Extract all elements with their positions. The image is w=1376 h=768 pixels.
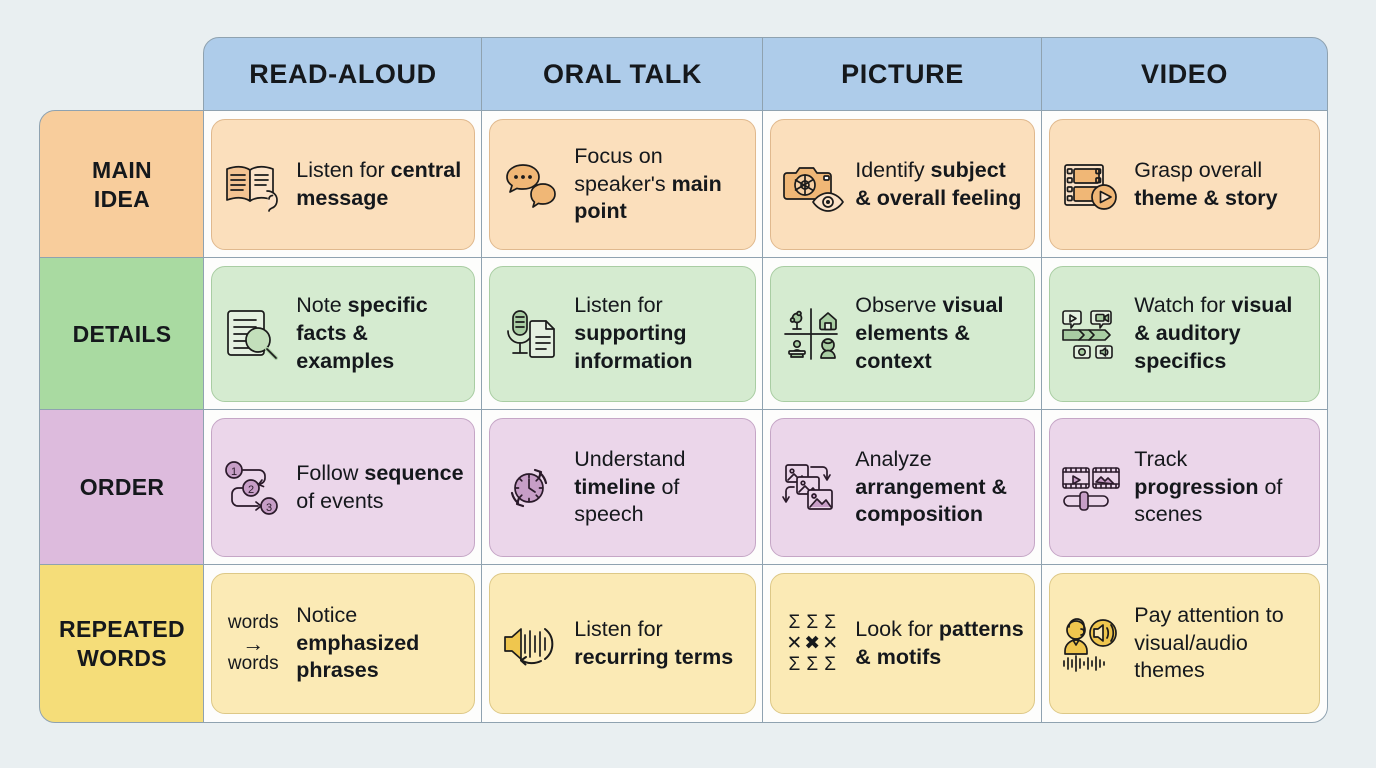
cell-text: Pay attention to visual/audio themes [1134,602,1309,686]
person-audio-wave-icon [1058,611,1124,677]
cell-text: Identify subject & overall feeling [855,157,1024,213]
stacked-photos-icon [779,455,845,521]
words-arrow-words-icon: words → words [220,611,286,677]
cell-main-idea-video[interactable]: Grasp overall theme & story [1041,110,1328,259]
svg-text:1: 1 [231,466,237,478]
speech-bubbles-icon [498,152,564,218]
row-header-label: ORDER [80,473,165,501]
speaker-loop-icon [498,611,564,677]
column-header-label: VIDEO [1141,59,1228,90]
cell-text: Listen for central message [296,157,464,213]
camera-eye-icon [779,152,845,218]
row-header-label: MAINIDEA [92,156,152,212]
row-header-label: DETAILS [73,320,172,348]
clock-arrows-icon [498,455,564,521]
cell-text: Observe visual elements & context [855,292,1024,376]
cell-text: Track progression of scenes [1134,446,1309,530]
document-magnifier-icon [220,301,286,367]
cell-text: Analyze arrangement & composition [855,446,1024,530]
cell-text: Note specific facts & examples [296,292,464,376]
cell-text: Listen for recurring terms [574,616,745,672]
sigma-pattern-grid-icon: Σ Σ Σ ✕ ✖ ✕ Σ Σ Σ [779,611,845,677]
words-icon-bottom: words [228,653,279,674]
column-header-oral-talk[interactable]: ORAL TALK [481,37,764,112]
film-slider-icon [1058,455,1124,521]
microphone-document-icon [498,301,564,367]
column-header-label: PICTURE [841,59,964,90]
column-header-label: READ-ALOUD [249,59,437,90]
cell-text: Listen for supporting information [574,292,745,376]
media-timeline-icon [1058,301,1124,367]
comprehension-strategy-matrix: READ-ALOUD ORAL TALK PICTURE VIDEO MAINI… [40,38,1337,722]
cell-details-oral-talk[interactable]: Listen for supporting information [481,257,764,411]
cell-repeated-words-video[interactable]: Pay attention to visual/audio themes [1041,564,1328,723]
svg-text:3: 3 [266,502,272,514]
film-strip-play-icon [1058,152,1124,218]
row-header-label: REPEATEDWORDS [59,615,185,671]
column-header-read-aloud[interactable]: READ-ALOUD [203,37,483,112]
cell-order-picture[interactable]: Analyze arrangement & composition [762,409,1043,566]
cell-details-read-aloud[interactable]: Note specific facts & examples [203,257,483,411]
cell-text: Understand timeline of speech [574,446,745,530]
open-book-ear-icon [220,152,286,218]
sigma-grid: Σ Σ Σ ✕ ✖ ✕ Σ Σ Σ [786,612,838,676]
row-header-order[interactable]: ORDER [39,409,205,566]
cell-details-video[interactable]: Watch for visual & audi­tory specifics [1041,257,1328,411]
cell-text: Focus on speaker's main point [574,143,745,227]
cell-text: Grasp overall theme & story [1134,157,1309,213]
cell-order-oral-talk[interactable]: Understand timeline of speech [481,409,764,566]
cell-main-idea-oral-talk[interactable]: Focus on speaker's main point [481,110,764,259]
matrix-grid: READ-ALOUD ORAL TALK PICTURE VIDEO MAINI… [40,38,1337,722]
row-header-main-idea[interactable]: MAINIDEA [39,110,205,259]
numbered-steps-icon: 1 2 3 [220,455,286,521]
column-header-picture[interactable]: PICTURE [762,37,1043,112]
cell-text: Notice emphasized phrases [296,602,464,686]
cell-repeated-words-oral-talk[interactable]: Listen for recurring terms [481,564,764,723]
cell-main-idea-read-aloud[interactable]: Listen for central message [203,110,483,259]
cell-text: Look for patterns & motifs [855,616,1024,672]
cell-text: Follow sequence of events [296,460,464,516]
cell-repeated-words-picture[interactable]: Σ Σ Σ ✕ ✖ ✕ Σ Σ Σ Look for patterns & mo… [762,564,1043,723]
matrix-corner-cell [39,37,205,112]
row-header-repeated-words[interactable]: REPEATEDWORDS [39,564,205,723]
svg-text:2: 2 [248,484,254,496]
image-quadrant-icon [779,301,845,367]
arrow-right-icon: → [228,632,279,655]
cell-main-idea-picture[interactable]: Identify subject & overall feeling [762,110,1043,259]
cell-order-video[interactable]: Track progression of scenes [1041,409,1328,566]
cell-details-picture[interactable]: Observe visual elements & context [762,257,1043,411]
cell-text: Watch for visual & audi­tory specifics [1134,292,1309,376]
row-header-details[interactable]: DETAILS [39,257,205,411]
cell-order-read-aloud[interactable]: 1 2 3 Follow sequence of events [203,409,483,566]
column-header-label: ORAL TALK [543,59,702,90]
words-icon-top: words [228,612,279,633]
cell-repeated-words-read-aloud[interactable]: words → words Notice emphasized phrases [203,564,483,723]
column-header-video[interactable]: VIDEO [1041,37,1328,112]
